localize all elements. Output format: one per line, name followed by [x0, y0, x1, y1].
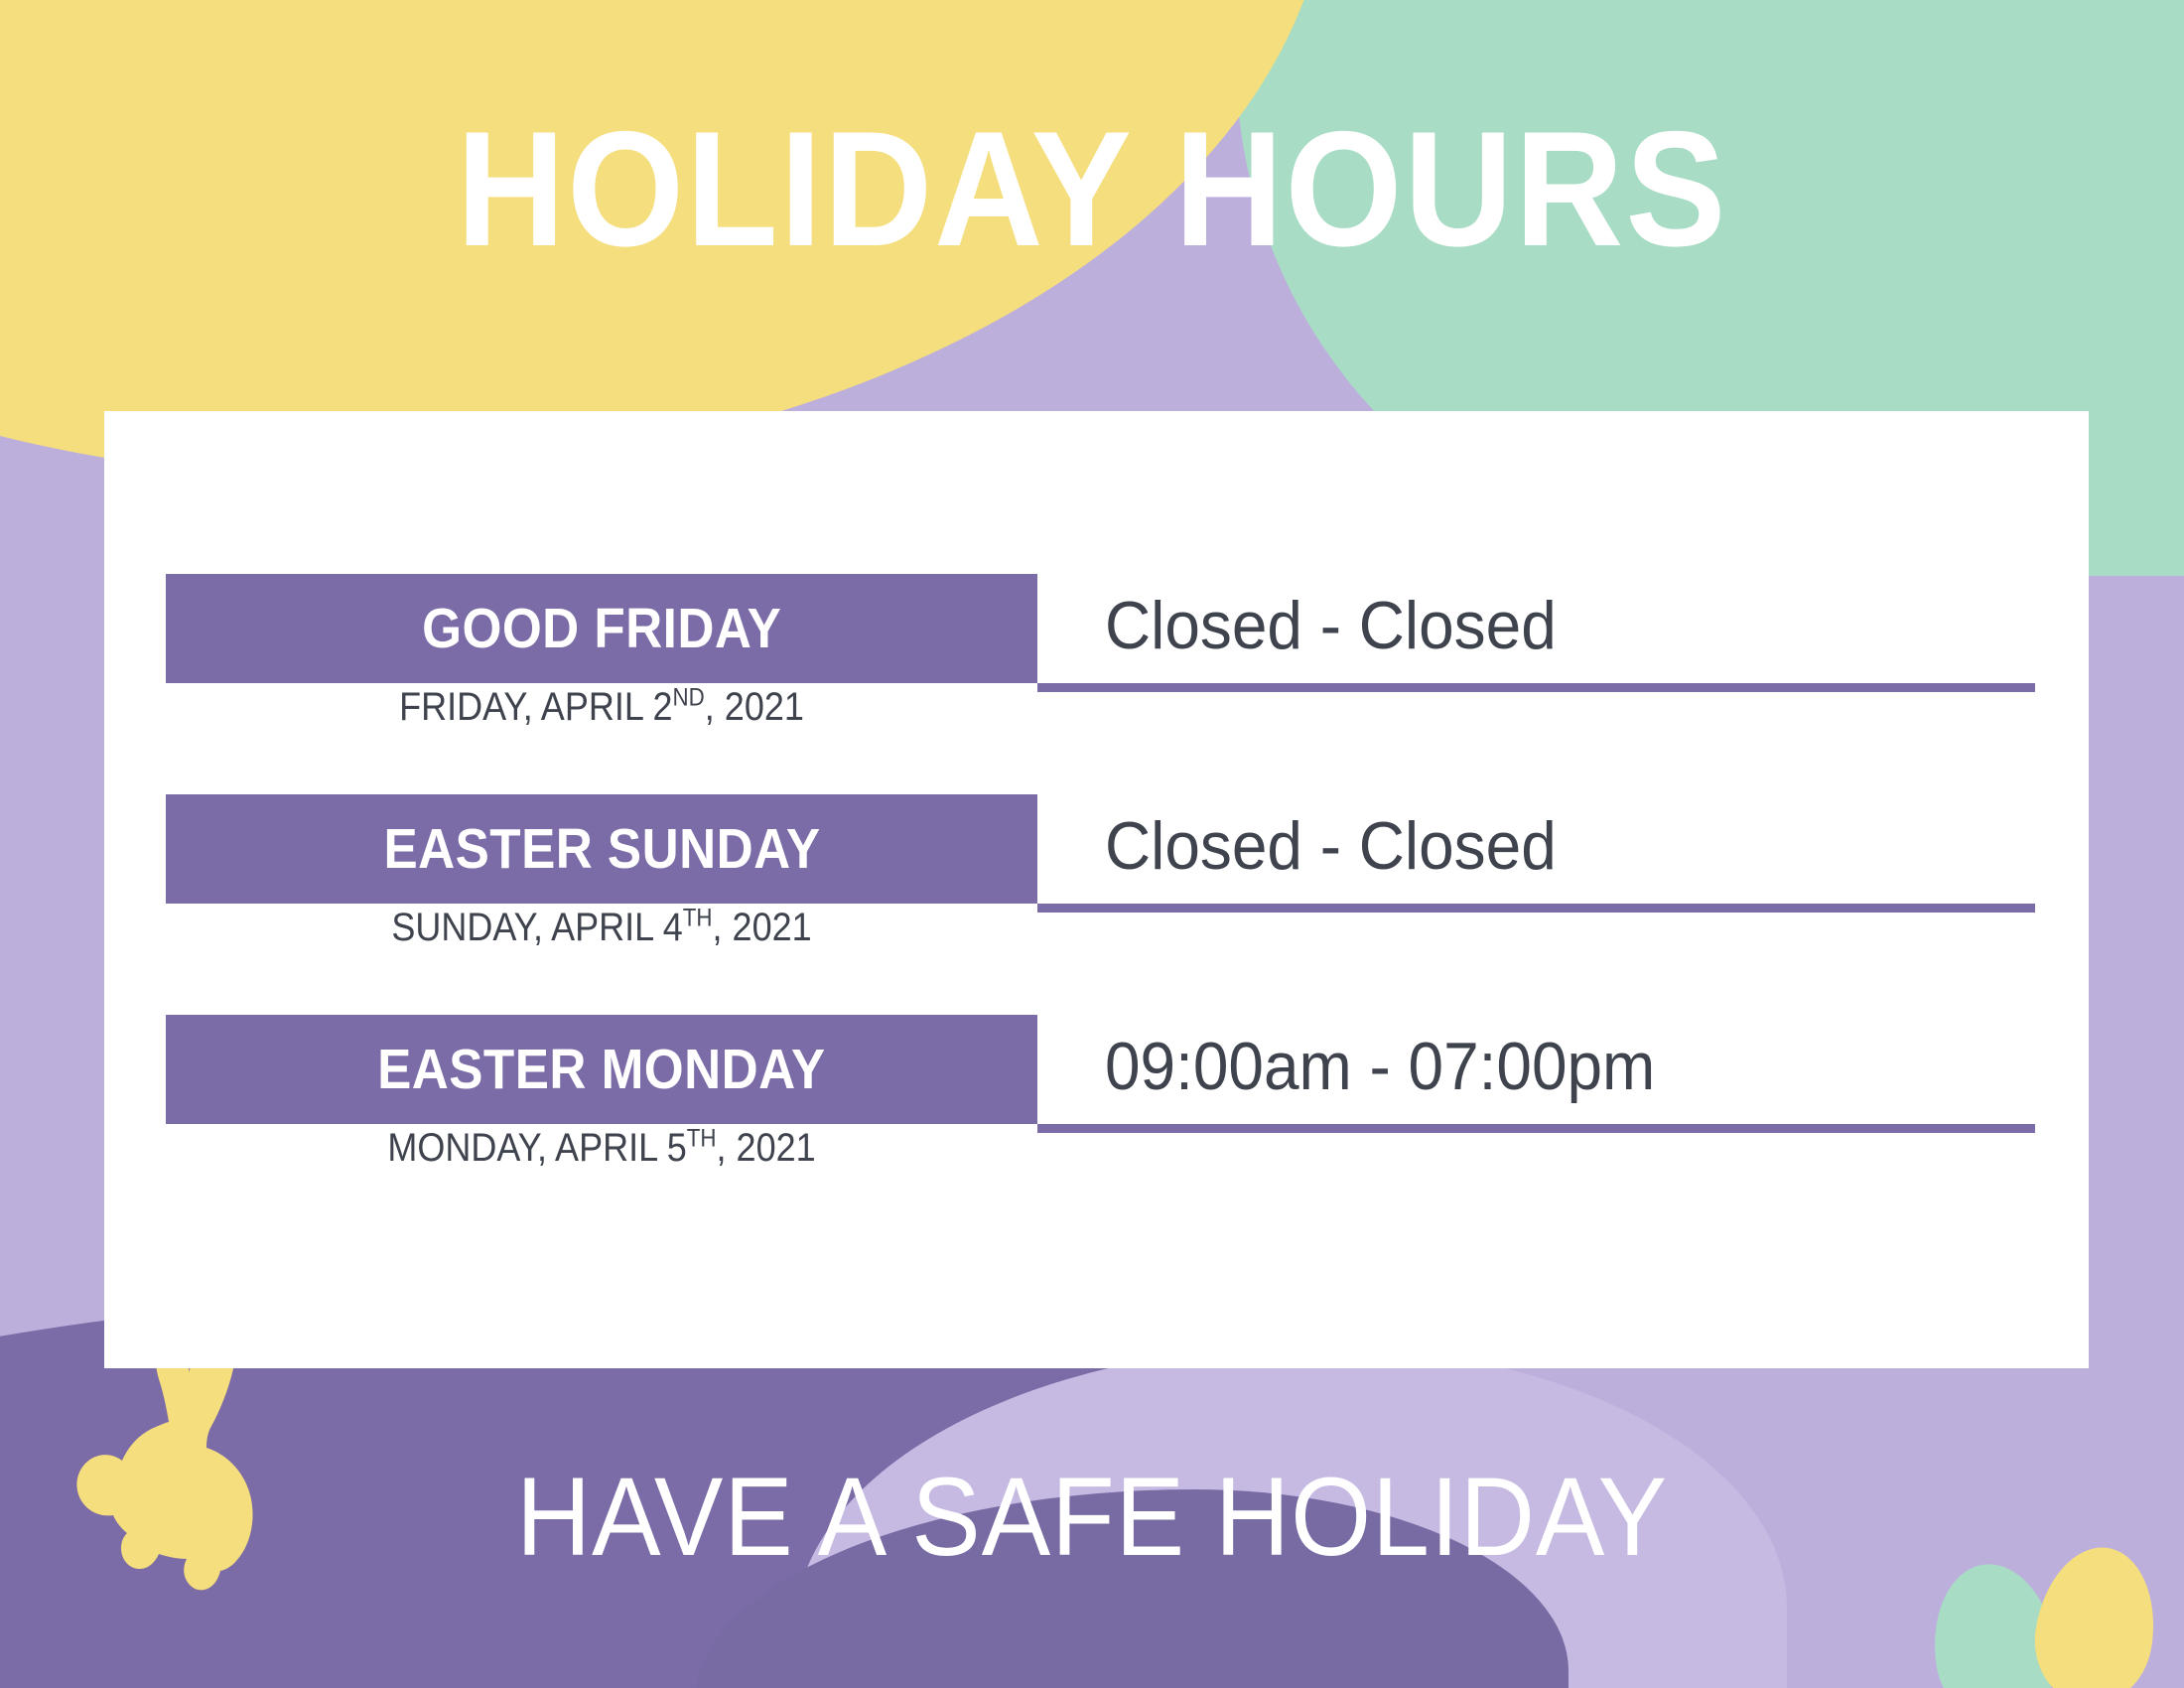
holiday-date-prefix: MONDAY, APRIL 5 — [387, 1126, 686, 1170]
holiday-hours: Closed - Closed — [1105, 587, 1557, 664]
schedule-card: GOOD FRIDAY FRIDAY, APRIL 2ND, 2021 Clos… — [104, 411, 2089, 1368]
holiday-date-suffix: , 2021 — [705, 685, 804, 729]
holiday-hours-poster: HOLIDAY HOURS GOOD FRIDAY FRIDAY, APRIL … — [0, 0, 2184, 1688]
holiday-name-bar: EASTER MONDAY — [166, 1015, 1037, 1124]
holiday-hours-cell: Closed - Closed — [1037, 788, 2035, 913]
holiday-date-ordinal: TH — [687, 1126, 717, 1153]
holiday-date: SUNDAY, APRIL 4TH, 2021 — [209, 906, 994, 950]
holiday-name: EASTER MONDAY — [377, 1037, 825, 1102]
holiday-hours-cell: 09:00am - 07:00pm — [1037, 1009, 2035, 1133]
footer-message: HAVE A SAFE HOLIDAY — [76, 1462, 2108, 1573]
holiday-date-ordinal: ND — [673, 685, 705, 712]
schedule-row: EASTER MONDAY MONDAY, APRIL 5TH, 2021 09… — [104, 1015, 2089, 1235]
holiday-date: FRIDAY, APRIL 2ND, 2021 — [209, 685, 994, 730]
holiday-date-suffix: , 2021 — [717, 1126, 816, 1170]
holiday-name: EASTER SUNDAY — [383, 816, 820, 882]
holiday-date: MONDAY, APRIL 5TH, 2021 — [209, 1126, 994, 1171]
holiday-name: GOOD FRIDAY — [422, 596, 781, 661]
holiday-name-bar: GOOD FRIDAY — [166, 574, 1037, 683]
schedule-row: GOOD FRIDAY FRIDAY, APRIL 2ND, 2021 Clos… — [104, 574, 2089, 794]
holiday-date-prefix: FRIDAY, APRIL 2 — [399, 685, 672, 729]
holiday-name-bar: EASTER SUNDAY — [166, 794, 1037, 904]
holiday-hours-cell: Closed - Closed — [1037, 568, 2035, 692]
holiday-hours: Closed - Closed — [1105, 807, 1557, 885]
holiday-hours: 09:00am - 07:00pm — [1105, 1028, 1655, 1105]
holiday-date-prefix: SUNDAY, APRIL 4 — [391, 906, 682, 949]
page-title: HOLIDAY HOURS — [87, 107, 2097, 271]
holiday-date-suffix: , 2021 — [713, 906, 812, 949]
schedule-row: EASTER SUNDAY SUNDAY, APRIL 4TH, 2021 Cl… — [104, 794, 2089, 1015]
holiday-date-ordinal: TH — [683, 906, 713, 932]
